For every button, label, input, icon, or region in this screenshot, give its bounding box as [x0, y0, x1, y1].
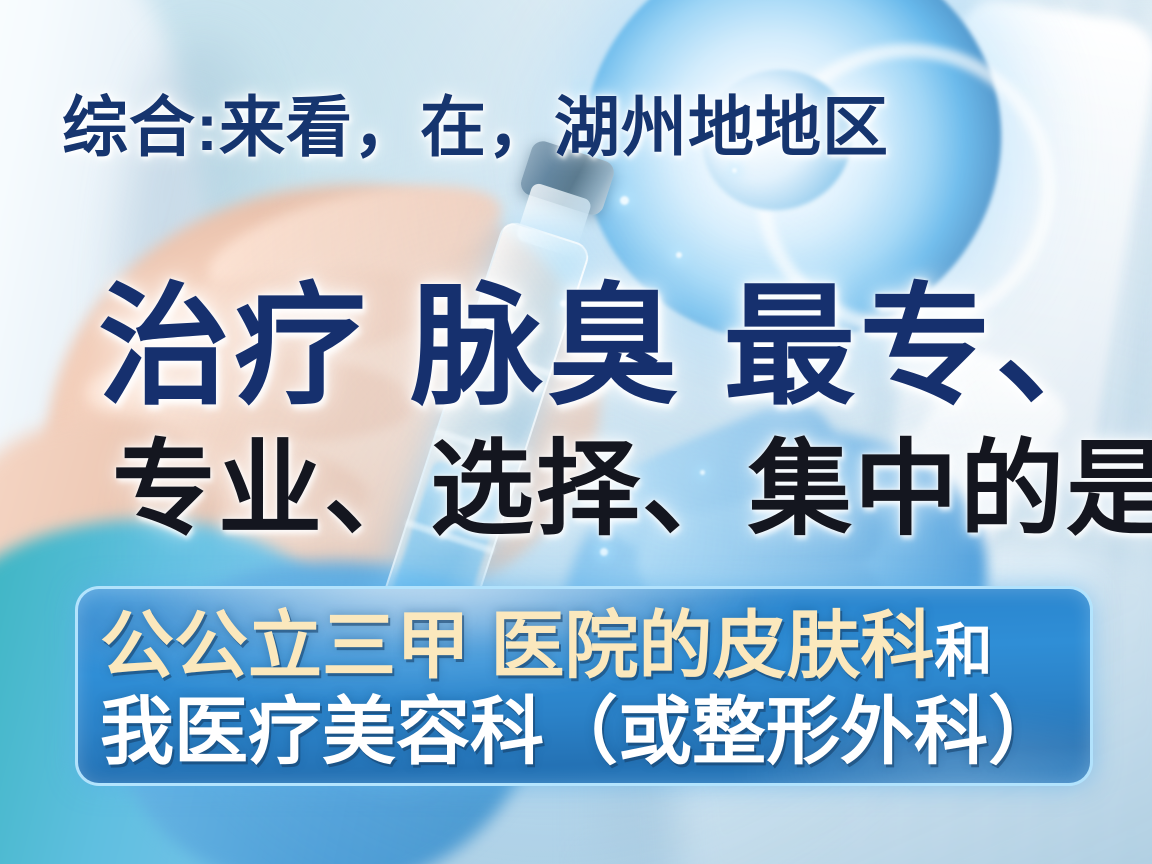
kicker-line: 综合:来看，在，湖州地地区 — [62, 74, 889, 170]
highlight-box-line-2: 我医疗美容科（或整形外科） — [100, 695, 1090, 769]
subheadline: 专业、选择、集中的是 — [112, 437, 1152, 543]
highlight-box-line-1-tail: 和 — [935, 619, 993, 684]
highlight-box-line-1: 公公立三甲 医院的皮肤科和 — [100, 609, 1090, 683]
highlight-box-line-1-main: 公公立三甲 医院的皮肤科 — [100, 604, 935, 687]
headline: 治疗 脉臭 最专、 — [98, 280, 1131, 415]
text-layer: 综合:来看，在，湖州地地区 治疗 脉臭 最专、 专业、选择、集中的是 公公立三甲… — [0, 0, 1152, 864]
poster-canvas: 综合:来看，在，湖州地地区 治疗 脉臭 最专、 专业、选择、集中的是 公公立三甲… — [0, 0, 1152, 864]
highlight-box: 公公立三甲 医院的皮肤科和 我医疗美容科（或整形外科） — [75, 586, 1093, 786]
